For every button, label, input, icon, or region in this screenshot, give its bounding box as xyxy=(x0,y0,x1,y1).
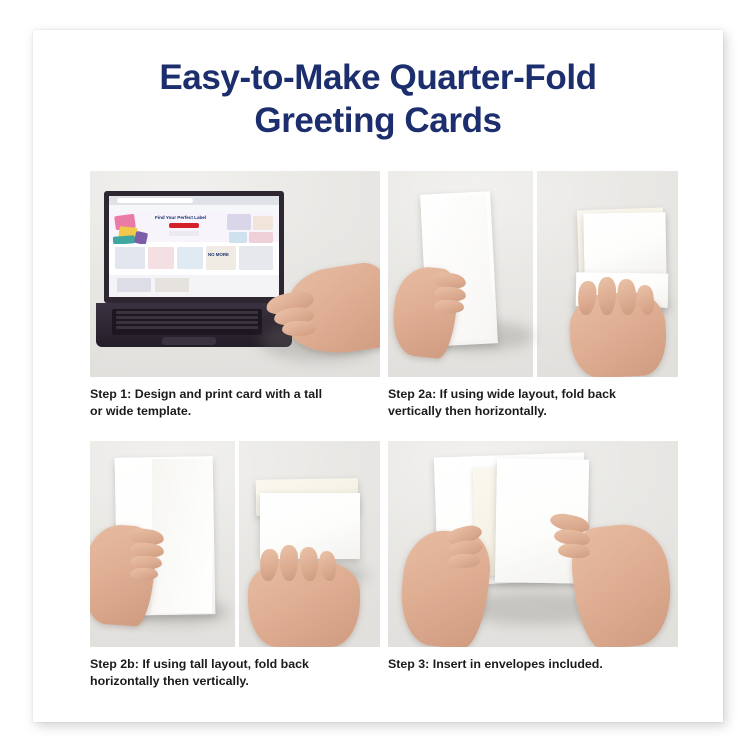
tile-4 xyxy=(206,246,236,270)
brand-text: NO MORE xyxy=(208,252,229,257)
poster-page: Easy-to-Make Quarter-Fold Greeting Cards… xyxy=(0,0,750,750)
laptop-screen: Find Your Perfect Label NO xyxy=(109,196,279,297)
browser-url-bar xyxy=(117,198,193,203)
step-2b-image xyxy=(90,441,380,647)
tile-1 xyxy=(115,247,145,269)
step-1-image: Find Your Perfect Label NO xyxy=(90,171,380,377)
laptop-trackpad xyxy=(162,337,216,345)
key-row-3 xyxy=(116,321,258,324)
tile-2 xyxy=(148,247,174,269)
site-hero-heading: Find Your Perfect Label xyxy=(155,215,206,220)
poster-card: Easy-to-Make Quarter-Fold Greeting Cards… xyxy=(33,30,723,722)
step-3-image xyxy=(388,441,678,647)
pinky-finger xyxy=(130,568,158,580)
browser-chrome xyxy=(109,196,279,205)
ring-finger xyxy=(434,299,464,313)
step-2a-image xyxy=(388,171,678,377)
step-2b-caption: Step 2b: If using tall layout, fold back… xyxy=(90,656,380,689)
tile-5 xyxy=(239,246,273,270)
key-row-1 xyxy=(116,311,258,314)
tile-3 xyxy=(177,247,203,269)
step-2b-caption-line-1: Step 2b: If using tall layout, fold back xyxy=(90,656,380,673)
product-thumb-3 xyxy=(229,232,247,243)
product-thumb-2 xyxy=(253,216,273,230)
step-1-caption-line-1: Step 1: Design and print card with a tal… xyxy=(90,386,380,403)
secondary-button[interactable] xyxy=(169,231,199,236)
key-row-4 xyxy=(116,326,258,329)
step-2a-caption: Step 2a: If using wide layout, fold back… xyxy=(388,386,678,419)
page-title: Easy-to-Make Quarter-Fold Greeting Cards xyxy=(33,56,723,142)
page-title-line-2: Greeting Cards xyxy=(33,99,723,142)
swatch-purple xyxy=(134,231,148,245)
step-1-caption: Step 1: Design and print card with a tal… xyxy=(90,386,380,419)
key-row-2 xyxy=(116,316,258,319)
step-2a-caption-line-2: vertically then horizontally. xyxy=(388,403,678,420)
folded-sheet-right-top xyxy=(583,212,666,275)
step-3-caption-line-1: Step 3: Insert in envelopes included. xyxy=(388,656,678,673)
product-thumb-4 xyxy=(249,232,273,243)
site-nav xyxy=(109,205,279,212)
step-3-caption: Step 3: Insert in envelopes included. xyxy=(388,656,678,673)
step-2b-caption-line-2: horizontally then vertically. xyxy=(90,673,380,690)
product-thumb-1 xyxy=(227,214,251,230)
footer-tile-2 xyxy=(155,278,189,292)
step-1-caption-line-2: or wide template. xyxy=(90,403,380,420)
step-2a-caption-line-1: Step 2a: If using wide layout, fold back xyxy=(388,386,678,403)
footer-tile-1 xyxy=(117,278,151,292)
shop-now-button[interactable] xyxy=(169,223,199,228)
page-title-line-1: Easy-to-Make Quarter-Fold xyxy=(33,56,723,99)
